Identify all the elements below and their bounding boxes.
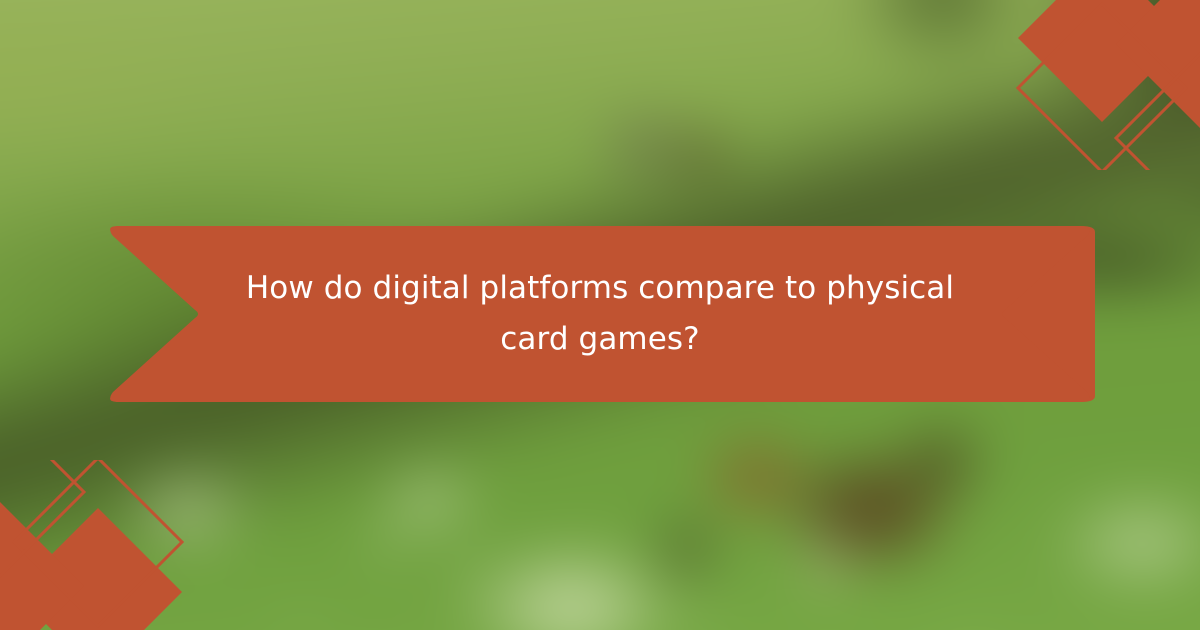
social-card: How do digital platforms compare to phys… [0,0,1200,630]
headline-text-block: How do digital platforms compare to phys… [105,226,1095,402]
headline-line-2: card games? [500,314,699,365]
headline-ribbon: How do digital platforms compare to phys… [105,226,1095,402]
headline-line-1: How do digital platforms compare to phys… [246,263,954,314]
